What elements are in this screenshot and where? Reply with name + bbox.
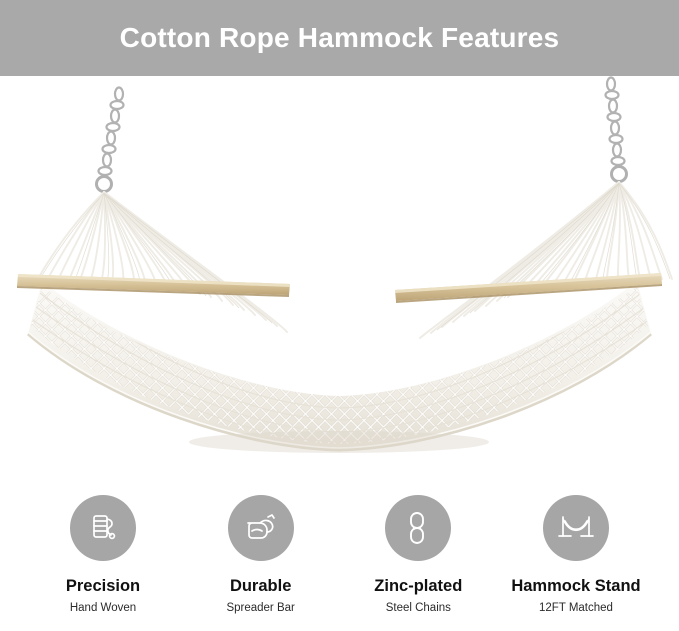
flexed-arm-icon <box>243 511 279 545</box>
feature-title: Durable <box>230 577 291 596</box>
feature-subtitle: Spreader Bar <box>226 602 294 616</box>
feature-item: Hammock Stand 12FT Matched <box>501 495 651 631</box>
chain-right <box>606 78 627 182</box>
feature-item: Durable Spreader Bar <box>186 495 336 631</box>
feature-title: Zinc-plated <box>374 577 462 596</box>
hammock-illustration <box>0 76 679 491</box>
feature-icon-circle <box>385 495 451 561</box>
feature-subtitle: 12FT Matched <box>539 602 613 616</box>
feature-item: Precision Hand Woven <box>28 495 178 631</box>
chain-left <box>97 88 124 192</box>
feature-item: Zinc-plated Steel Chains <box>343 495 493 631</box>
feature-subtitle: Hand Woven <box>70 602 136 616</box>
hammock-stand-icon <box>557 512 595 544</box>
feature-subtitle: Steel Chains <box>386 602 451 616</box>
hammock-bed <box>0 266 679 466</box>
rope-spool-icon <box>86 511 120 545</box>
feature-icon-circle <box>228 495 294 561</box>
feature-list: Precision Hand Woven Durable Spreader Ba… <box>0 495 679 631</box>
feature-title: Precision <box>66 577 140 596</box>
feature-icon-circle <box>543 495 609 561</box>
chain-link-icon <box>402 511 434 545</box>
feature-title: Hammock Stand <box>511 577 640 596</box>
page-title: Cotton Rope Hammock Features <box>0 0 679 76</box>
hammock-product-image <box>0 76 679 491</box>
feature-icon-circle <box>70 495 136 561</box>
